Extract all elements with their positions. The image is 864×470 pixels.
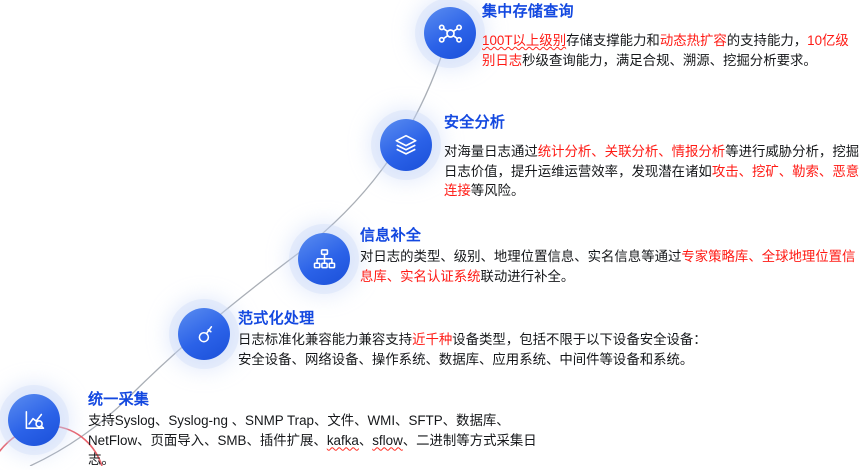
node-body: 对海量日志通过统计分析、关联分析、情报分析等进行威胁分析，挖掘日志价值，提升运维… [444,142,860,201]
infographic-canvas: 集中存储查询 100T以上级别存储支撑能力和动态热扩容的支持能力，10亿级别日志… [0,0,864,466]
chart-search-icon[interactable] [8,394,60,446]
node-heading: 范式化处理 [238,309,718,328]
key-icon[interactable] [178,308,230,360]
node-heading: 集中存储查询 [482,2,860,21]
node-body: 支持Syslog、Syslog-ng 、SNMP Trap、文件、WMI、SFT… [88,411,548,470]
node-body: 对日志的类型、级别、地理位置信息、实名信息等通过专家策略库、全球地理位置信息库、… [360,247,860,286]
node-body: 日志标准化兼容能力兼容支持近千种设备类型，包括不限于以下设备安全设备：安全设备、… [238,330,718,369]
node-heading: 统一采集 [88,390,548,409]
network-nodes-icon[interactable] [424,7,476,59]
org-chart-icon[interactable] [298,233,350,285]
node-heading: 信息补全 [360,226,860,245]
node-body: 100T以上级别存储支撑能力和动态热扩容的支持能力，10亿级别日志秒级查询能力，… [482,31,860,70]
node-heading: 安全分析 [444,113,860,132]
layers-stack-icon[interactable] [380,119,432,171]
